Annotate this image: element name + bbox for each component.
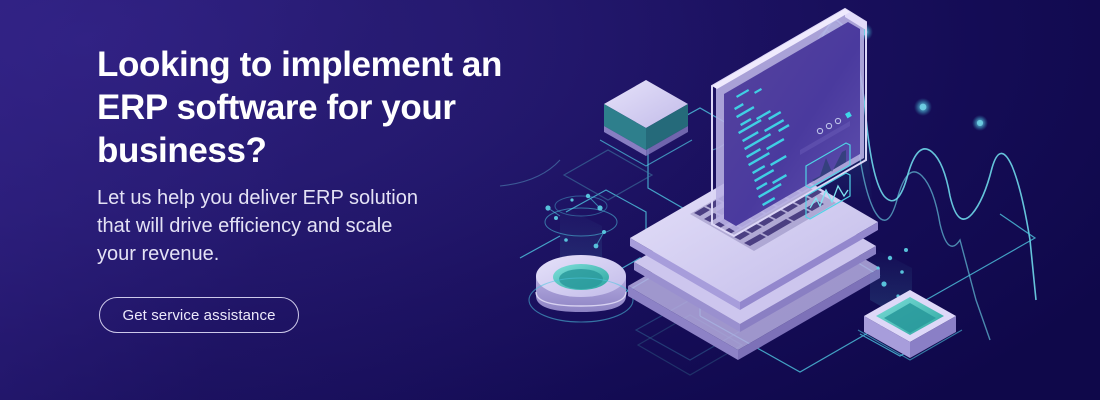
subheadline: Let us help you deliver ERP solution tha…: [97, 184, 577, 268]
headline-line-3: business?: [97, 129, 577, 172]
erp-promo-banner: Looking to implement an ERP software for…: [0, 0, 1100, 400]
glow-dots: [855, 23, 988, 131]
copy-block: Looking to implement an ERP software for…: [97, 43, 577, 268]
subcopy-line-3: your revenue.: [97, 240, 577, 268]
headline-line-2: ERP software for your: [97, 86, 577, 129]
subcopy-line-1: Let us help you deliver ERP solution: [97, 184, 577, 212]
page-title: Looking to implement an ERP software for…: [97, 43, 577, 172]
get-service-assistance-button[interactable]: Get service assistance: [99, 297, 299, 333]
headline-line-1: Looking to implement an: [97, 43, 577, 86]
subcopy-line-2: that will drive efficiency and scale: [97, 212, 577, 240]
floating-cube-right: [858, 246, 962, 360]
